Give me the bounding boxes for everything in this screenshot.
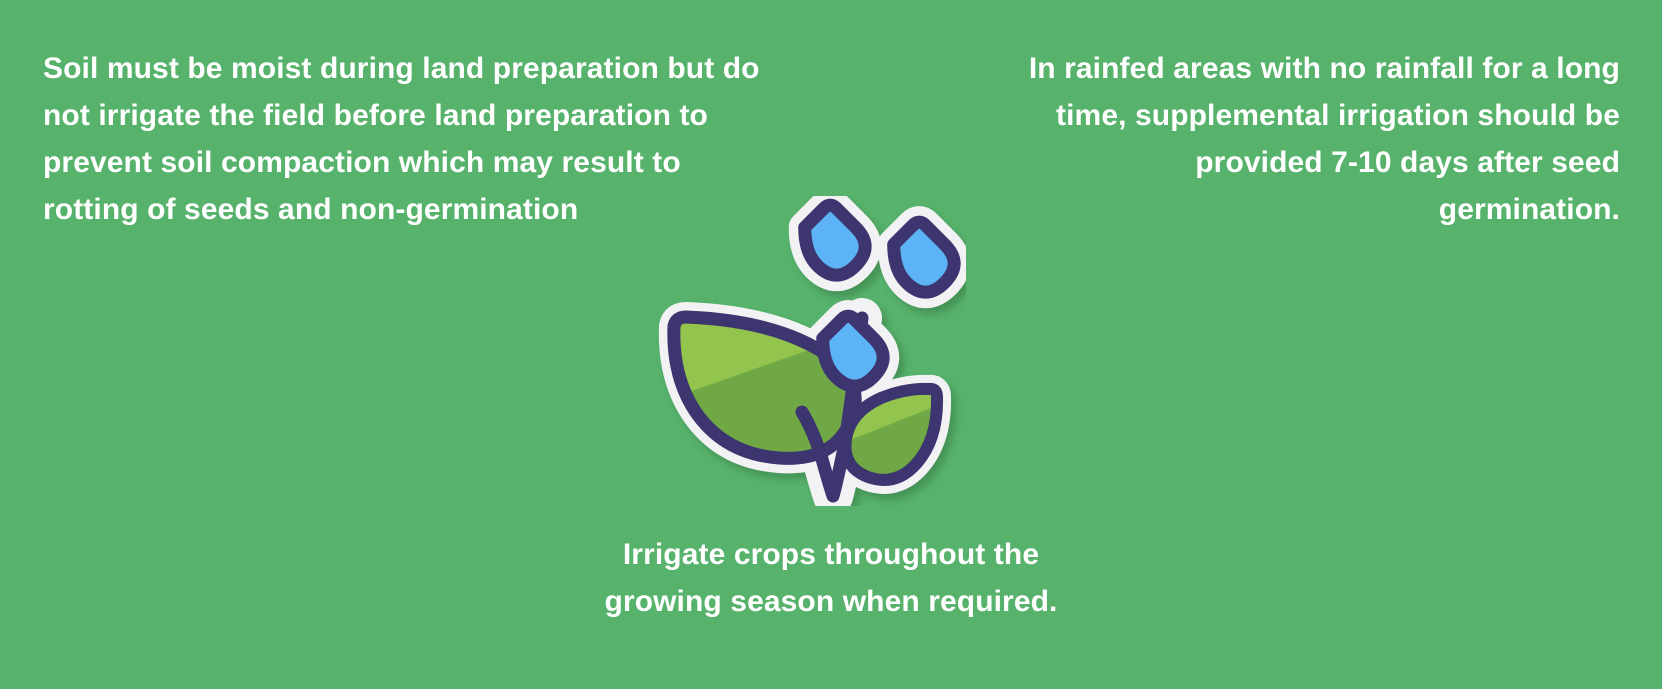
tip-text-right: In rainfed areas with no rainfall for a …: [1020, 45, 1620, 233]
infographic-canvas: Soil must be moist during land preparati…: [0, 0, 1662, 689]
plant-icon-group: [674, 202, 964, 496]
tip-text-bottom: Irrigate crops throughout the growing se…: [0, 531, 1662, 625]
plant-watering-icon: [646, 196, 966, 506]
